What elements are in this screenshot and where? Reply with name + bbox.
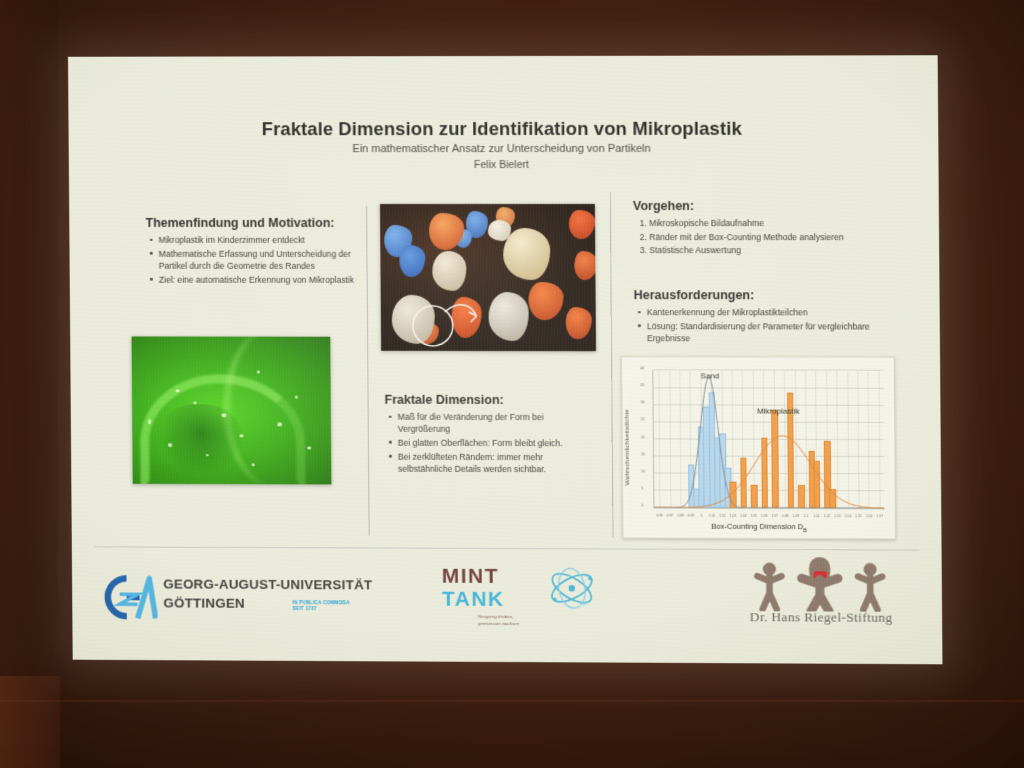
chart-x-tick-label: 1.08 xyxy=(782,514,788,518)
chart-x-tick-label: 1.17 xyxy=(876,514,883,518)
chart-x-tick-label: 1.15 xyxy=(855,514,862,518)
chart-y-tick-label: 5 xyxy=(641,486,643,490)
mint-word: MINT xyxy=(442,565,499,589)
list-item: Ränder mit der Box-Counting Methode anal… xyxy=(649,231,859,243)
chart-y-tick-label: 10 xyxy=(641,469,645,473)
section-heading-herausforderungen: Herausforderungen: xyxy=(634,288,870,302)
chart-x-tick-label: 1.06 xyxy=(761,514,767,518)
chart-x-tick-label: 1.03 xyxy=(730,514,736,518)
chart-distribution-curve xyxy=(654,435,884,508)
chart-annotation-sand: Sand xyxy=(701,372,720,381)
logo-georg-august-universitaet: GEORG-AUGUST-UNIVERSITÄT GÖTTINGEN IN PU… xyxy=(94,566,383,629)
section-heading-fraktale: Fraktale Dimension: xyxy=(384,393,589,407)
list-fraktale: Maß für die Veränderung der Form bei Ver… xyxy=(385,411,590,476)
chart-x-tick-label: 1.02 xyxy=(719,514,725,518)
green-image-speck xyxy=(277,422,282,426)
chart-x-tick-label: 1.14 xyxy=(845,514,852,518)
chart-x-tick-label: 1.12 xyxy=(824,514,830,518)
chart-x-tick-label: 0.96 xyxy=(656,514,662,518)
list-item: Mikroplastik im Kinderzimmer entdeckt xyxy=(148,234,367,246)
chart-x-tick-label: 1.16 xyxy=(866,514,873,518)
presentation-slide: Fraktale Dimension zur Identifikation vo… xyxy=(68,55,942,664)
green-image-speck xyxy=(168,443,172,447)
author-name: Felix Bielert xyxy=(69,159,939,171)
chart-x-tick-label: 1.04 xyxy=(740,514,746,518)
mint-tagline: Neugierig bleiben, gemeinsam wachsen xyxy=(478,614,519,627)
section-heading-vorgehen: Vorgehen: xyxy=(633,199,859,213)
three-figures-icon xyxy=(744,555,895,612)
chart-x-axis-label: Box-Counting Dimension DB xyxy=(627,522,891,535)
chart-y-tick-label: 0 xyxy=(641,503,643,507)
histogram-chart-panel: Wahrscheinlichkeitsdichte 05101520253035… xyxy=(621,356,896,539)
chart-curve-overlay xyxy=(653,370,884,508)
atom-orbit-icon xyxy=(544,563,600,613)
section-heading-themenfindung: Themenfindung und Motivation: xyxy=(145,216,366,230)
chart-x-tick-label: 0.97 xyxy=(667,514,673,518)
chart-y-tick-label: 40 xyxy=(640,366,644,370)
green-microscope-image xyxy=(132,336,332,484)
chart-y-tick-label: 15 xyxy=(641,452,645,456)
chart-x-tick-label: 1 xyxy=(701,514,703,518)
projection-screen[interactable]: Fraktale Dimension zur Identifikation vo… xyxy=(68,55,942,664)
page-subtitle: Ein mathematischer Ansatz zur Unterschei… xyxy=(69,143,939,156)
floor-line xyxy=(0,700,1024,702)
wall-corner-shadow xyxy=(0,676,60,768)
section-fraktale-dimension: Fraktale Dimension: Maß für die Veränder… xyxy=(384,393,590,477)
chart-x-tick-label: 1.11 xyxy=(813,514,819,518)
list-item: Mathematische Erfassung und Unterscheidu… xyxy=(148,248,367,272)
list-item: Maß für die Veränderung der Form bei Ver… xyxy=(387,411,590,436)
column-divider-right xyxy=(610,192,614,537)
chart-y-tick-label: 35 xyxy=(640,383,644,387)
list-item: Bei zerklüfteten Rändern: immer mehr sel… xyxy=(387,450,590,475)
page-title: Fraktale Dimension zur Identifikation vo… xyxy=(68,118,938,141)
chart-x-tick-label: 1.01 xyxy=(709,514,715,518)
ga-monogram-icon xyxy=(94,572,158,622)
chart-x-tick-label: 1.09 xyxy=(792,514,798,518)
tank-word: TANK xyxy=(442,588,505,612)
chart-x-tick-label: 1.1 xyxy=(804,514,809,518)
wall-panel-left xyxy=(0,0,58,700)
chart-x-tick-label: 1.13 xyxy=(834,514,841,518)
chart-inner: Wahrscheinlichkeitsdichte 05101520253035… xyxy=(626,360,891,535)
mint-tagline-line2: gemeinsam wachsen xyxy=(478,620,519,627)
green-image-speck xyxy=(148,419,151,424)
mint-tagline-line1: Neugierig bleiben, xyxy=(478,614,519,621)
list-herausforderungen: Kantenerkennung der Mikroplastikteilchen… xyxy=(634,306,871,345)
chart-y-axis-label: Wahrscheinlichkeitsdichte xyxy=(624,409,632,485)
list-item: Ziel: eine automatische Erkennung von Mi… xyxy=(148,273,367,285)
chart-x-tick-label: 1.07 xyxy=(771,514,777,518)
uni-motto: IN PUBLICA COMMODA SEIT 1737 xyxy=(292,600,349,613)
green-image-speck xyxy=(221,413,226,417)
section-vorgehen: Vorgehen: Mikroskopische Bildaufnahme Rä… xyxy=(633,199,860,258)
column-divider-left xyxy=(366,206,370,535)
section-themenfindung: Themenfindung und Motivation: Mikroplast… xyxy=(145,216,366,287)
uni-motto-line2: SEIT 1737 xyxy=(293,606,350,612)
projection-area: Fraktale Dimension zur Identifikation vo… xyxy=(0,0,1024,768)
list-item: Statistische Auswertung xyxy=(649,244,859,256)
chart-annotation-mikroplastik: Mikroplastik xyxy=(757,406,800,415)
section-herausforderungen: Herausforderungen: Kantenerkennung der M… xyxy=(634,288,871,346)
chart-x-tick-label: 1.05 xyxy=(750,514,756,518)
green-image-speck xyxy=(239,434,243,437)
logo-mint-tank: MINT TANK Neugierig bleiben, gemeinsam w… xyxy=(442,561,593,632)
green-image-shadow-region xyxy=(160,404,244,475)
chart-y-tick-label: 20 xyxy=(641,435,645,439)
chart-x-tick-label: 0.98 xyxy=(677,514,683,518)
uni-name-line2: GÖTTINGEN xyxy=(163,595,245,610)
green-image-speck xyxy=(257,371,260,374)
riegel-stiftung-name: Dr. Hans Riegel-Stiftung xyxy=(720,609,922,626)
chart-distribution-curve xyxy=(653,377,883,508)
green-image-speck xyxy=(307,446,311,449)
annotation-circle xyxy=(413,306,453,346)
logo-dr-hans-riegel-stiftung: Dr. Hans Riegel-Stiftung xyxy=(720,555,922,634)
chart-x-tick-label: 0.99 xyxy=(688,514,694,518)
uni-name-line1: GEORG-AUGUST-UNIVERSITÄT xyxy=(163,577,372,593)
list-vorgehen: Mikroskopische Bildaufnahme Ränder mit d… xyxy=(633,217,860,257)
annotation-overlay xyxy=(380,204,596,351)
list-item: Kantenerkennung der Mikroplastikteilchen xyxy=(636,306,870,319)
list-item: Mikroskopische Bildaufnahme xyxy=(649,217,859,229)
list-themenfindung: Mikroplastik im Kinderzimmer entdeckt Ma… xyxy=(146,234,367,286)
chart-y-tick-label: 30 xyxy=(640,401,644,405)
list-item: Lösung: Standardisierung der Parameter f… xyxy=(636,320,870,345)
chart-plot-area: 05101520253035400.960.970.980.9911.011.0… xyxy=(652,370,884,509)
footer-divider xyxy=(94,546,920,550)
microplastic-particles-image xyxy=(380,204,596,351)
list-item: Bei glatten Oberflächen: Form bleibt gle… xyxy=(387,437,590,450)
chart-y-tick-label: 25 xyxy=(641,418,645,422)
